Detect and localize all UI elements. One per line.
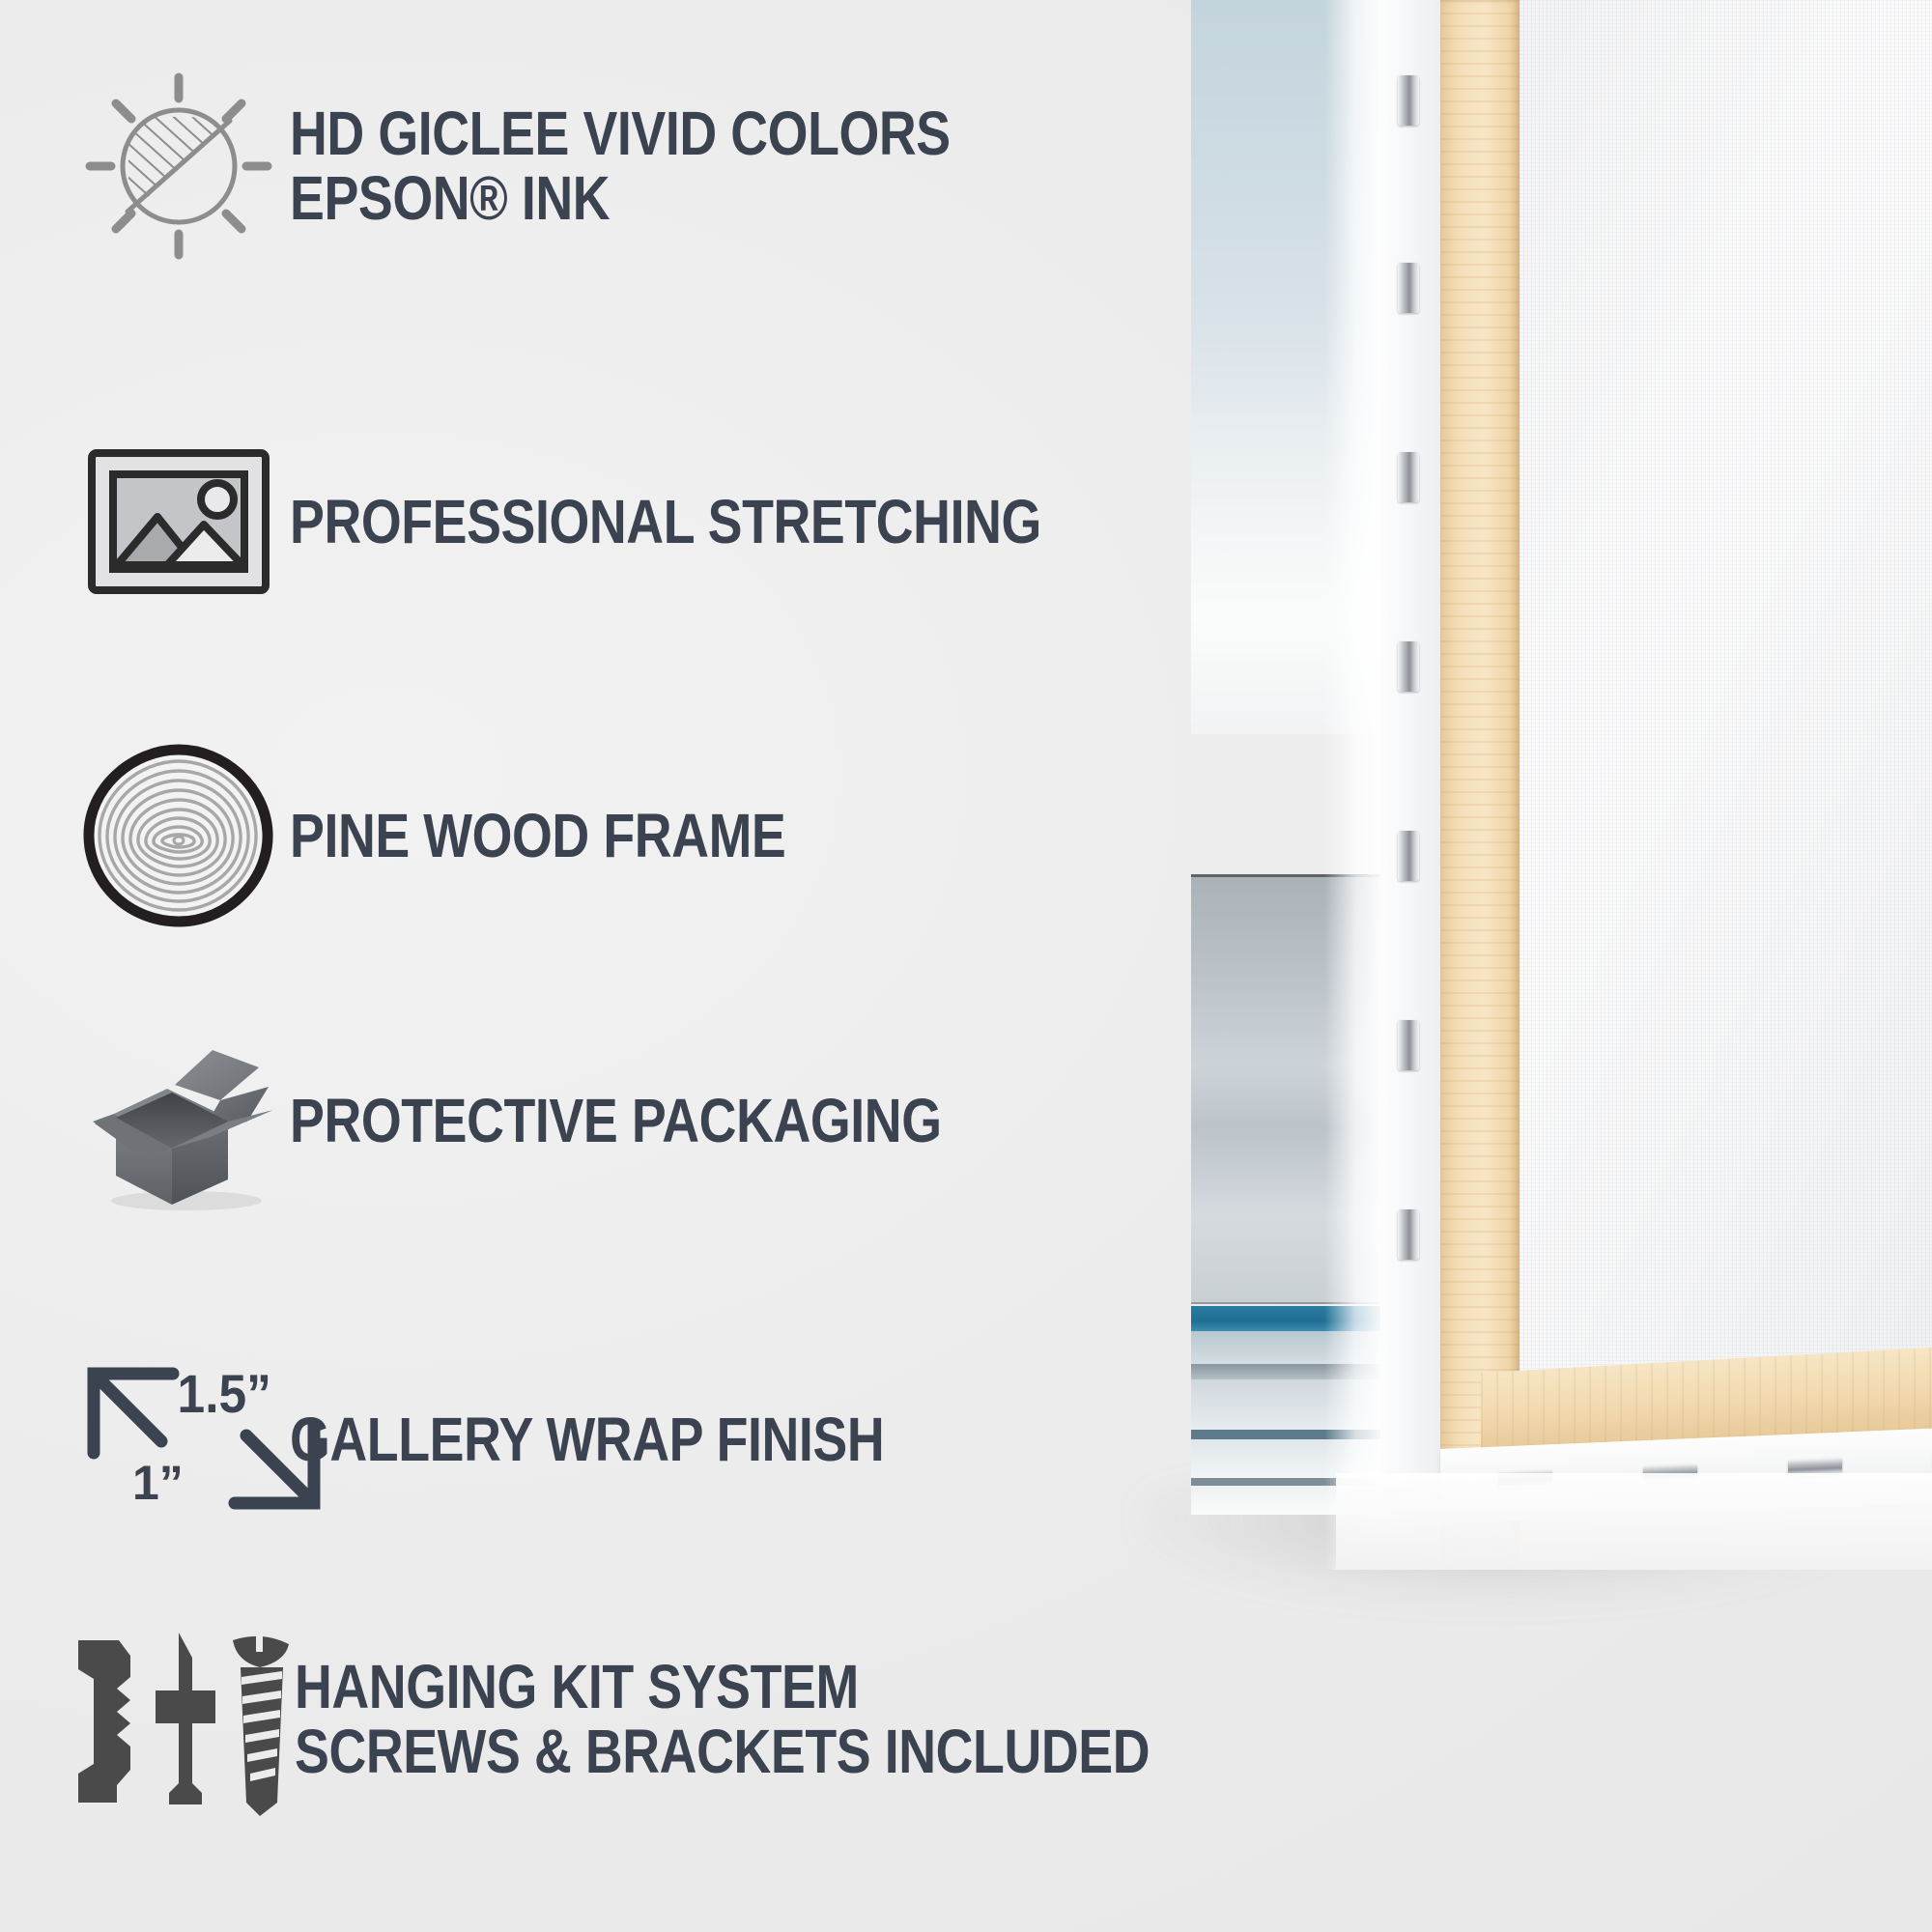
hardware-icon (58, 1623, 295, 1816)
width-dimension-label: 1” (132, 1456, 184, 1510)
staple (1398, 831, 1419, 881)
staple (1398, 452, 1419, 502)
tree-rings-icon (68, 739, 290, 932)
staple (1398, 263, 1419, 313)
feature-row-hd-giclee: HD GICLEE VIVID COLORS EPSON® INK (68, 70, 1076, 263)
feature-label-protective-packaging: PROTECTIVE PACKAGING (290, 1089, 942, 1153)
feature-row-pine-wood-frame: PINE WOOD FRAME (68, 739, 880, 932)
screw-icon (233, 1633, 289, 1816)
nail-icon (156, 1633, 215, 1804)
feature-row-professional-stretching: PROFESSIONAL STRETCHING (68, 425, 1184, 618)
product-photo-canvas-back (1191, 0, 1932, 1570)
feature-label-hanging-kit: HANGING KIT SYSTEM SCREWS & BRACKETS INC… (295, 1655, 1150, 1783)
infographic-canvas: HD GICLEE VIVID COLORS EPSON® INK PROFES… (0, 0, 1932, 1932)
feature-label-professional-stretching: PROFESSIONAL STRETCHING (290, 490, 1041, 554)
open-box-icon (68, 1024, 290, 1217)
sawtooth-bracket-icon (78, 1640, 130, 1803)
feature-label-gallery-wrap-finish: GALLERY WRAP FINISH (290, 1407, 884, 1472)
staple (1398, 75, 1419, 126)
photo-bottom-fade (1336, 1473, 1932, 1570)
feature-label-hd-giclee: HD GICLEE VIVID COLORS EPSON® INK (290, 101, 951, 230)
canvas-bottom-corner (1191, 1251, 1932, 1570)
feature-label-pine-wood-frame: PINE WOOD FRAME (290, 804, 785, 868)
staple (1398, 641, 1419, 692)
staple (1398, 1020, 1419, 1070)
picture-frame-icon (68, 425, 290, 618)
sun-hatched-icon (68, 70, 290, 263)
feature-list: HD GICLEE VIVID COLORS EPSON® INK PROFES… (0, 0, 1207, 1932)
feature-row-protective-packaging: PROTECTIVE PACKAGING (68, 1024, 1065, 1217)
feature-row-gallery-wrap-finish: 1.5” 1” GALLERY WRAP FINISH (68, 1343, 997, 1536)
feature-row-hanging-kit: HANGING KIT SYSTEM SCREWS & BRACKETS INC… (58, 1623, 1313, 1816)
depth-dimension-label: 1.5” (178, 1364, 271, 1424)
